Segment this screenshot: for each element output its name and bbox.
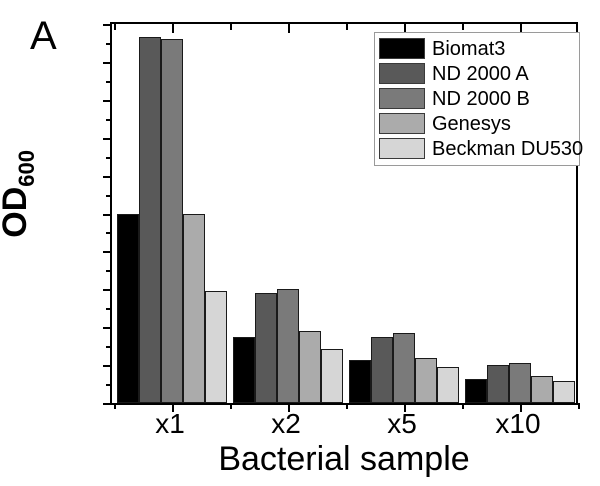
- bar-x10-nd-2000-a: [487, 365, 509, 403]
- y-axis-tick-major: [103, 289, 112, 291]
- x-axis-tick-minor: [578, 403, 580, 409]
- y-axis-tick-major: [103, 176, 112, 178]
- x-axis-title: Bacterial sample: [110, 441, 578, 477]
- x-axis-tick-top-minor: [230, 24, 232, 30]
- y-axis-tick-major: [103, 100, 112, 102]
- bar-x10-beckman-du530: [553, 381, 575, 403]
- y-axis-title-subscript: 600: [14, 150, 39, 187]
- legend-swatch-icon: [379, 88, 425, 109]
- bar-x1-nd-2000-b: [161, 39, 183, 403]
- x-axis-tick-label-x5: x5: [357, 410, 447, 438]
- legend-swatch-icon: [379, 38, 425, 59]
- legend-item-nd-2000-a[interactable]: ND 2000 A: [379, 61, 575, 86]
- y-axis-tick-minor: [106, 157, 112, 159]
- x-axis-tick-top-minor: [114, 24, 116, 30]
- bar-x10-biomat3: [465, 379, 487, 403]
- bar-x5-genesys: [415, 358, 437, 403]
- x-axis-tick-top-minor: [346, 24, 348, 30]
- y-axis-tick-minor: [106, 270, 112, 272]
- bar-x1-beckman-du530: [205, 291, 227, 403]
- legend-label: ND 2000 A: [432, 64, 529, 84]
- chart-legend: Biomat3ND 2000 AND 2000 BGenesysBeckman …: [374, 32, 580, 166]
- bar-x1-genesys: [183, 214, 205, 404]
- x-axis-tick-label-x2: x2: [241, 410, 331, 438]
- bar-x5-nd-2000-a: [371, 337, 393, 403]
- y-axis-tick-major: [103, 327, 112, 329]
- legend-item-genesys[interactable]: Genesys: [379, 111, 575, 136]
- legend-swatch-icon: [379, 63, 425, 84]
- y-axis-title: OD600: [0, 150, 44, 238]
- x-axis-tick-label-x1: x1: [125, 410, 215, 438]
- legend-item-biomat3[interactable]: Biomat3: [379, 36, 575, 61]
- legend-label: Beckman DU530: [432, 139, 583, 159]
- bar-x2-biomat3: [233, 337, 255, 403]
- legend-label: Biomat3: [432, 39, 505, 59]
- y-axis-tick-minor: [106, 346, 112, 348]
- bar-x2-genesys: [299, 331, 321, 403]
- y-axis-tick-minor: [106, 119, 112, 121]
- y-axis-tick-major: [103, 403, 112, 405]
- bar-x5-biomat3: [349, 360, 371, 403]
- x-axis-tick-minor: [462, 403, 464, 409]
- y-axis-tick-minor: [106, 81, 112, 83]
- legend-swatch-icon: [379, 138, 425, 159]
- y-axis-tick-major: [103, 24, 112, 26]
- chart-figure: A OD600 0.00.20.40.60.81.01.21.41.61.82.…: [0, 0, 600, 486]
- y-axis-tick-major: [103, 365, 112, 367]
- x-axis-tick-minor: [230, 403, 232, 409]
- x-axis-tick-top-minor: [462, 24, 464, 30]
- bar-x1-biomat3: [117, 214, 139, 404]
- bar-x5-beckman-du530: [437, 367, 459, 403]
- panel-label: A: [30, 16, 56, 56]
- bar-x2-nd-2000-b: [277, 289, 299, 403]
- x-axis-tick-minor: [114, 403, 116, 409]
- y-axis-tick-minor: [106, 43, 112, 45]
- y-axis-tick-major: [103, 251, 112, 253]
- legend-label: ND 2000 B: [432, 89, 530, 109]
- y-axis-title-text: OD: [0, 187, 34, 238]
- y-axis-tick-minor: [106, 308, 112, 310]
- y-axis-tick-major: [103, 62, 112, 64]
- y-axis-tick-minor: [106, 195, 112, 197]
- bar-x2-nd-2000-a: [255, 293, 277, 403]
- bar-x1-nd-2000-a: [139, 37, 161, 403]
- x-axis-tick-top: [172, 24, 174, 33]
- plot-frame: 0.00.20.40.60.81.01.21.41.61.82.0 Biomat…: [110, 22, 578, 405]
- y-axis-tick-minor: [106, 384, 112, 386]
- x-axis-tick-label-x10: x10: [473, 410, 563, 438]
- legend-swatch-icon: [379, 113, 425, 134]
- y-axis-tick-major: [103, 214, 112, 216]
- bar-x10-genesys: [531, 376, 553, 403]
- legend-label: Genesys: [432, 114, 511, 134]
- legend-item-nd-2000-b[interactable]: ND 2000 B: [379, 86, 575, 111]
- y-axis-tick-major: [103, 138, 112, 140]
- x-axis-tick-minor: [346, 403, 348, 409]
- bar-x10-nd-2000-b: [509, 363, 531, 403]
- bar-x2-beckman-du530: [321, 349, 343, 403]
- x-axis-tick-top: [288, 24, 290, 33]
- legend-item-beckman-du530[interactable]: Beckman DU530: [379, 136, 575, 161]
- bar-x5-nd-2000-b: [393, 333, 415, 403]
- y-axis-tick-minor: [106, 232, 112, 234]
